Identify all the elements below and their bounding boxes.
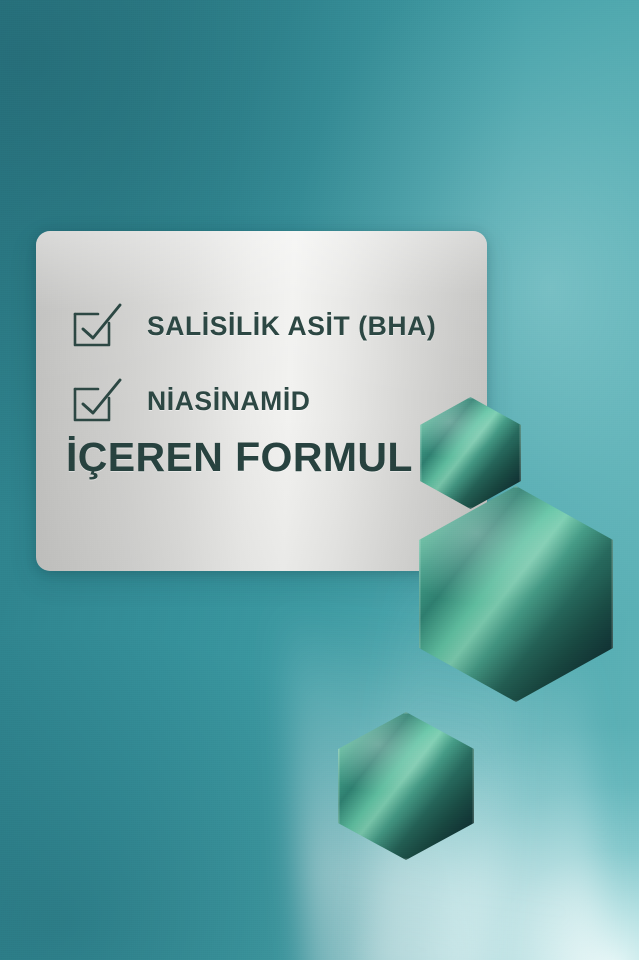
- checkbox-checked-icon: [72, 303, 122, 349]
- list-item-label: NİASİNAMİD: [147, 388, 311, 415]
- list-item: SALİSİLİK ASİT (BHA): [72, 303, 436, 349]
- list-item-label: SALİSİLİK ASİT (BHA): [147, 313, 436, 340]
- product-banner: SALİSİLİK ASİT (BHA) NİASİNAMİD İÇEREN F…: [0, 0, 639, 960]
- page-title: İÇEREN FORMUL: [66, 437, 413, 478]
- ingredients-card: SALİSİLİK ASİT (BHA) NİASİNAMİD İÇEREN F…: [36, 231, 487, 571]
- checkbox-checked-icon: [72, 378, 122, 424]
- list-item: NİASİNAMİD: [72, 378, 311, 424]
